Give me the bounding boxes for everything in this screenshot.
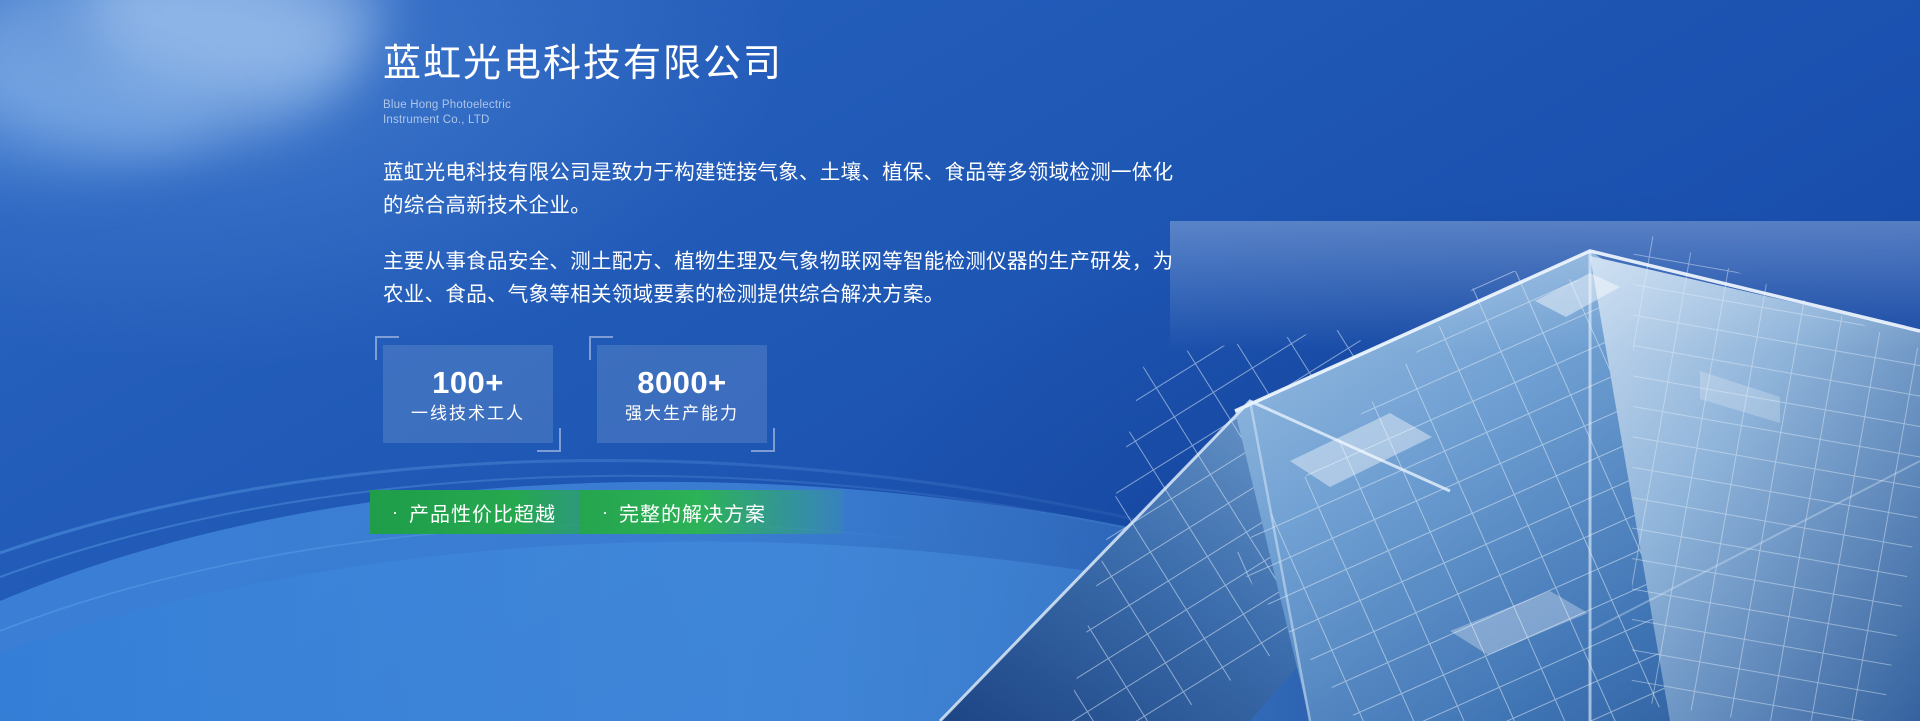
bullet-icon: · — [602, 503, 609, 521]
company-english-line-1: Blue Hong Photoelectric — [383, 98, 1483, 114]
cloud-decoration — [0, 0, 360, 150]
feature-tag: · 产品性价比超越 — [370, 490, 604, 534]
intro-paragraph-2: 主要从事食品安全、测土配方、植物生理及气象物联网等智能检测仪器的生产研发，为农业… — [383, 245, 1183, 311]
hero-content: 蓝虹光电科技有限公司 Blue Hong Photoelectric Instr… — [383, 0, 1483, 443]
cloud-decoration — [0, 60, 210, 180]
feature-tag-label: 完整的解决方案 — [619, 498, 766, 527]
feature-tag: · 完整的解决方案 — [580, 490, 844, 534]
bullet-icon: · — [392, 503, 399, 521]
stat-value: 8000+ — [637, 367, 727, 398]
stat-card: 100+ 一线技术工人 — [383, 345, 553, 443]
feature-tag-label: 产品性价比超越 — [409, 498, 556, 527]
cloud-decoration — [90, 0, 390, 90]
company-english-line-2: Instrument Co., LTD — [383, 113, 1483, 129]
stat-card: 8000+ 强大生产能力 — [597, 345, 767, 443]
stat-label: 一线技术工人 — [411, 405, 525, 422]
stat-value: 100+ — [432, 367, 504, 398]
stat-label: 强大生产能力 — [625, 405, 739, 422]
company-english-name: Blue Hong Photoelectric Instrument Co., … — [383, 98, 1483, 129]
stats-group: 100+ 一线技术工人 8000+ 强大生产能力 — [383, 345, 1483, 443]
hero-banner: 蓝虹光电科技有限公司 Blue Hong Photoelectric Instr… — [0, 0, 1920, 721]
feature-tags-group: · 产品性价比超越 · 完整的解决方案 — [370, 490, 844, 534]
company-name: 蓝虹光电科技有限公司 — [383, 42, 1483, 88]
intro-paragraph-1: 蓝虹光电科技有限公司是致力于构建链接气象、土壤、植保、食品等多领域检测一体化的综… — [383, 156, 1183, 222]
